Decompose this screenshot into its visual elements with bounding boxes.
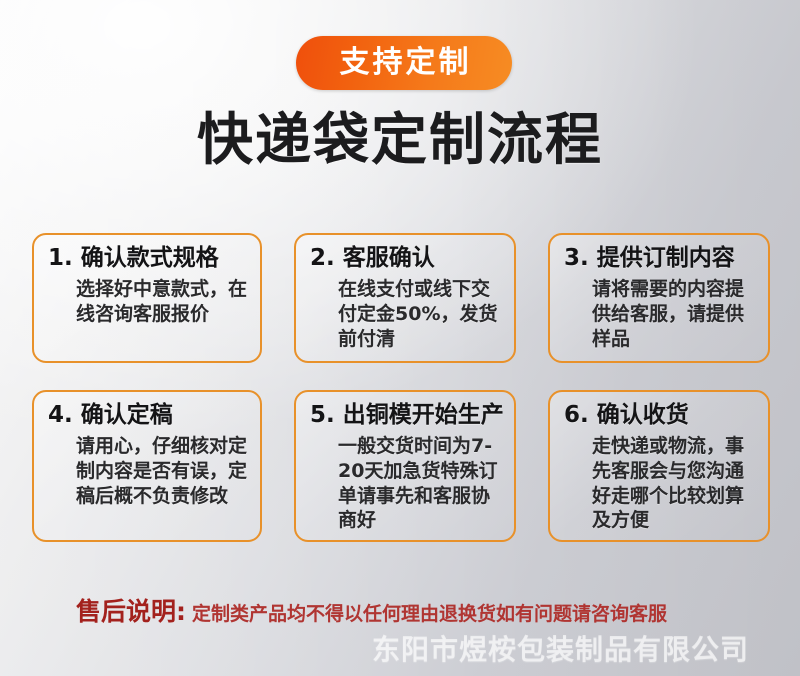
step-card-5-title: 5. 出铜模开始生产 [310,402,502,429]
after-sales-notice: 售后说明: 定制类产品均不得以任何理由退换货如有问题请咨询客服 [76,592,756,628]
step-card-6-body: 走快递或物流，事先客服会与您沟通好走哪个比较划算及方便 [564,434,756,533]
step-card-4-title: 4. 确认定稿 [48,402,248,429]
step-card-2: 2. 客服确认 在线支付或线下交付定金50%，发货前付清 [294,233,516,363]
step-card-1: 1. 确认款式规格 选择好中意款式，在线咨询客服报价 [32,233,262,363]
step-card-4: 4. 确认定稿 请用心，仔细核对定制内容是否有误，定稿后概不负责修改 [32,390,262,542]
step-card-6: 6. 确认收货 走快递或物流，事先客服会与您沟通好走哪个比较划算及方便 [548,390,770,542]
step-card-2-title: 2. 客服确认 [310,245,502,272]
supports-customization-badge: 支持定制 [296,36,512,90]
step-card-3-body: 请将需要的内容提供给客服，请提供样品 [564,277,756,351]
step-card-6-title: 6. 确认收货 [564,402,756,429]
step-card-5-body: 一般交货时间为7-20天加急货特殊订单请事先和客服协商好 [310,434,502,533]
badge-label: 支持定制 [337,48,472,78]
step-card-5: 5. 出铜模开始生产 一般交货时间为7-20天加急货特殊订单请事先和客服协商好 [294,390,516,542]
step-card-1-title: 1. 确认款式规格 [48,245,248,272]
step-card-3-title: 3. 提供订制内容 [564,245,756,272]
step-card-2-body: 在线支付或线下交付定金50%，发货前付清 [310,277,502,351]
company-watermark: 东阳市煜桉包装制品有限公司 [372,628,749,668]
step-card-4-body: 请用心，仔细核对定制内容是否有误，定稿后概不负责修改 [48,434,248,508]
step-card-3: 3. 提供订制内容 请将需要的内容提供给客服，请提供样品 [548,233,770,363]
step-card-1-body: 选择好中意款式，在线咨询客服报价 [48,277,248,326]
promo-infographic-page: 支持定制 快递袋定制流程 1. 确认款式规格 选择好中意款式，在线咨询客服报价 … [0,0,800,676]
after-sales-text: 定制类产品均不得以任何理由退换货如有问题请咨询客服 [192,599,667,626]
after-sales-label: 售后说明: [76,592,186,628]
page-title: 快递袋定制流程 [0,112,800,171]
